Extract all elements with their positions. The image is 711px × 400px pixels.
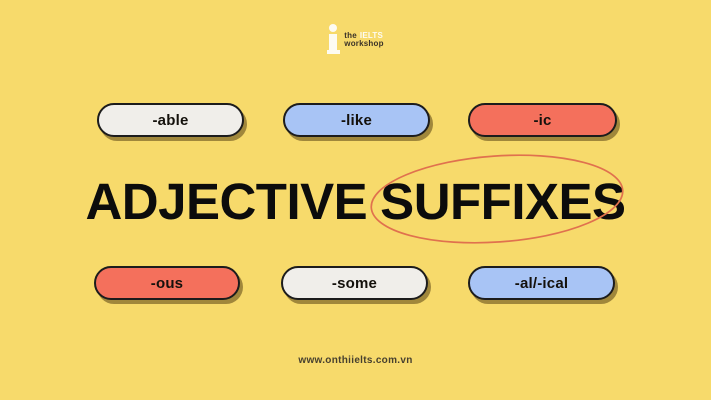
suffix-chip-like[interactable]: -like [283, 103, 430, 137]
letter-i-foot-icon [327, 50, 340, 54]
page-title-word-suffixes: SUFFIXES [380, 176, 625, 227]
suffix-chip-label: -like [341, 112, 372, 129]
suffix-chip-ous[interactable]: -ous [94, 266, 240, 300]
letter-i-icon [327, 24, 340, 54]
brand-logo-workshop: workshop [344, 40, 383, 48]
suffix-chip-label: -al/-ical [515, 275, 569, 292]
footer-website-url[interactable]: www.onthiielts.com.vn [0, 355, 711, 366]
suffix-chip-label: -some [332, 275, 377, 292]
suffix-chip-ic[interactable]: -ic [468, 103, 617, 137]
page-title-word-adjective: ADJECTIVE [85, 176, 367, 227]
poster-canvas: the IELTS workshop -able -like -ic ADJEC… [0, 0, 711, 400]
brand-logo-wordmark: the IELTS workshop [344, 30, 383, 49]
suffix-chip-label: -ic [533, 112, 551, 129]
suffix-chip-label: -ous [151, 275, 183, 292]
page-title: ADJECTIVE SUFFIXES [0, 170, 711, 232]
brand-logo: the IELTS workshop [0, 22, 711, 56]
brand-logo-line-2: workshop [344, 40, 383, 48]
suffix-chip-al-ical[interactable]: -al/-ical [468, 266, 615, 300]
suffix-chip-able[interactable]: -able [97, 103, 244, 137]
letter-i-dot-icon [329, 24, 337, 32]
suffix-chip-label: -able [152, 112, 188, 129]
suffix-chip-some[interactable]: -some [281, 266, 428, 300]
